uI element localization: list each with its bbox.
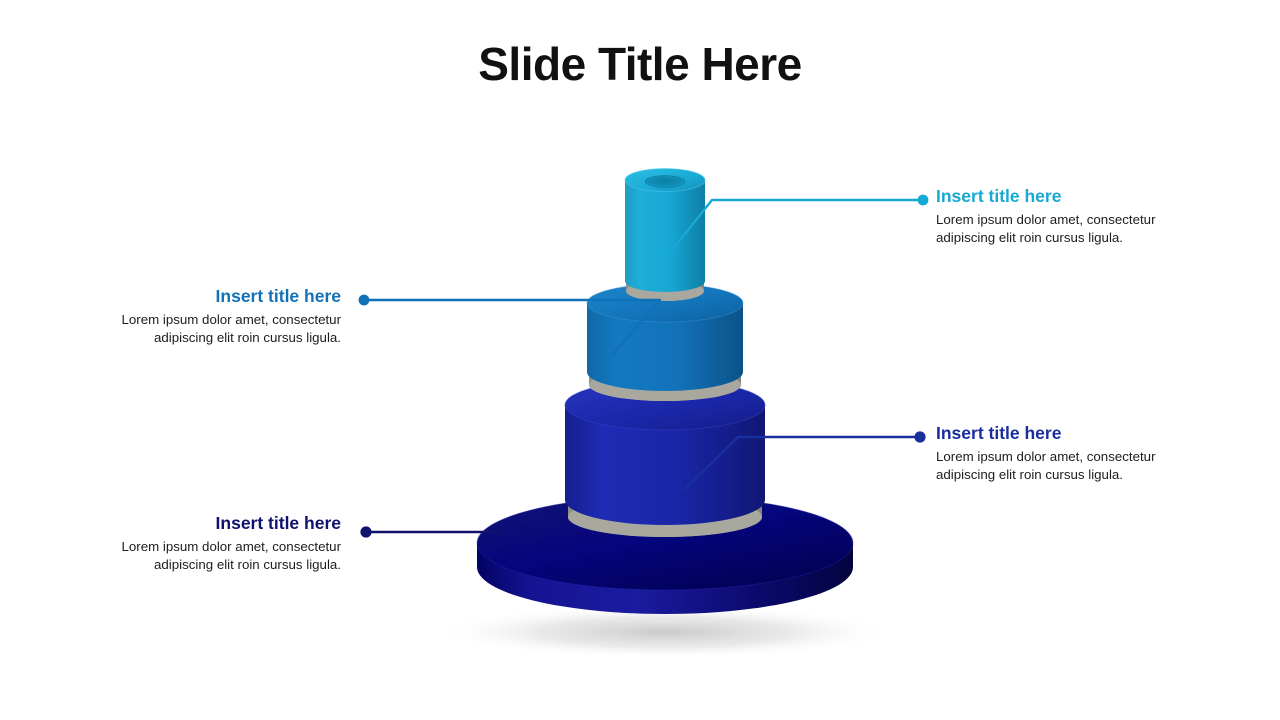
connector-line-top-right [672, 195, 928, 250]
tier-4-base-disc [477, 496, 853, 614]
callout-body: Lorem ipsum dolor amet, consectetur adip… [111, 311, 341, 346]
gray-band-2 [589, 369, 741, 401]
callout-body: Lorem ipsum dolor amet, consectetur adip… [936, 448, 1166, 483]
connector-line-bottom-left [360, 526, 500, 537]
connector-dot-top-right [918, 195, 929, 206]
callout-title: Insert title here [936, 186, 1166, 208]
tier-1-cylinder [625, 169, 705, 293]
gray-band-1 [626, 281, 704, 301]
callout-middle-right[interactable]: Insert title here Lorem ipsum dolor amet… [936, 423, 1166, 483]
connector-dot-middle-left [359, 295, 370, 306]
callout-body: Lorem ipsum dolor amet, consectetur adip… [111, 538, 341, 573]
callout-top-right[interactable]: Insert title here Lorem ipsum dolor amet… [936, 186, 1166, 246]
callout-title: Insert title here [936, 423, 1166, 445]
callout-body: Lorem ipsum dolor amet, consectetur adip… [936, 211, 1166, 246]
floor-shadow [435, 605, 895, 659]
tier-2-cylinder [587, 284, 743, 391]
page-title: Slide Title Here [0, 38, 1280, 91]
connector-dot-bottom-left [360, 526, 371, 537]
tier-3-cylinder [565, 380, 765, 525]
callout-title: Insert title here [111, 286, 341, 308]
tier-1-hole [645, 176, 685, 188]
connector-line-middle-right [684, 431, 926, 490]
callout-title: Insert title here [111, 513, 341, 535]
slide-canvas: Slide Title Here [0, 0, 1280, 720]
connector-line-middle-left [359, 295, 660, 355]
connector-dot-middle-right [914, 431, 925, 442]
callout-bottom-left[interactable]: Insert title here Lorem ipsum dolor amet… [111, 513, 341, 573]
stacked-cylinder-diagram [0, 0, 1280, 720]
callout-middle-left[interactable]: Insert title here Lorem ipsum dolor amet… [111, 286, 341, 346]
gray-band-3 [568, 497, 762, 537]
